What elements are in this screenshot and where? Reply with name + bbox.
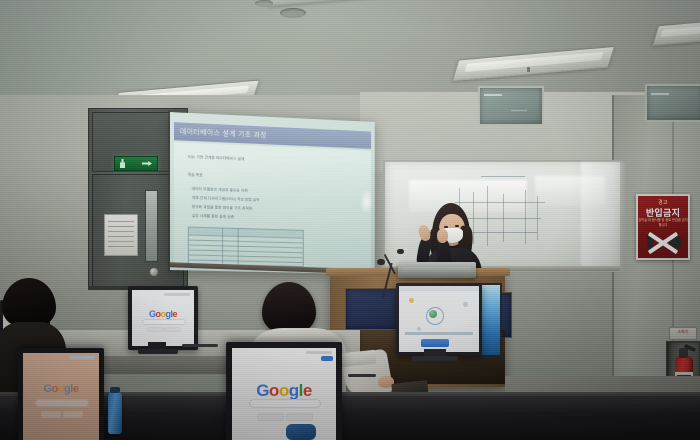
sprinkler-head <box>527 67 530 72</box>
slide-bullet: 개체-관계 다이어그램(ERD) 작성 방법 습득 <box>192 196 260 203</box>
monitor-foreground-screen[interactable]: Google <box>232 348 336 440</box>
no-food-sign: 경고 반입금지 강의실 내 음식물 및 음료 반입을 금지합니다 <box>636 194 690 260</box>
browser-account-chip[interactable] <box>321 356 333 361</box>
podium-monitor-screen[interactable] <box>399 286 479 352</box>
upper-window-panel <box>478 86 544 126</box>
google-search-button[interactable] <box>257 413 284 421</box>
monitor-foreground[interactable]: Google <box>226 342 342 440</box>
ceiling-vent <box>255 0 273 7</box>
door-handle[interactable] <box>150 268 158 276</box>
monitor-base <box>412 356 458 361</box>
google-logo-letter: e <box>303 381 312 400</box>
fire-extinguisher-sign-text: 소화기 <box>670 329 696 335</box>
search-input[interactable] <box>249 399 322 408</box>
slide-bullet: 데이터 모델링의 개념과 필요성 이해 <box>192 187 248 194</box>
desk-blue-object <box>286 424 316 440</box>
bottle-cap <box>110 387 120 393</box>
desk-cable <box>182 344 218 347</box>
browser-tab-strip <box>164 293 190 296</box>
google-logo: Google <box>44 383 79 395</box>
whiteboard-reflection <box>409 180 527 212</box>
google-logo: Google <box>149 309 177 319</box>
page-dot-icon <box>417 327 421 331</box>
slide-bullet: 정규화 과정을 통한 테이블 구조 최적화 <box>192 205 253 212</box>
page-caption-line <box>405 332 472 335</box>
google-logo-letter: e <box>73 383 79 395</box>
google-logo-letter: o <box>279 381 289 400</box>
posted-notice-paper <box>104 214 138 256</box>
slide-table <box>188 227 304 267</box>
monitor-bottom-left[interactable]: Google <box>18 348 104 440</box>
monitor-mid-left[interactable]: Google <box>128 286 198 350</box>
desk-cable <box>348 374 376 377</box>
front-desk <box>0 396 700 440</box>
google-logo-letter: g <box>289 381 299 400</box>
google-logo-letter: G <box>44 383 52 395</box>
exit-sign <box>114 156 158 171</box>
sign-icon-group <box>644 230 682 254</box>
feeling-lucky-button[interactable] <box>63 411 83 418</box>
whiteboard-reflection <box>581 162 625 270</box>
slide-title-text: 데이터베이스 설계 기초 과정 <box>180 126 267 140</box>
ceiling-vent <box>280 8 306 18</box>
podium-monitor[interactable] <box>396 283 482 355</box>
door-window <box>145 190 158 262</box>
projection-screen: 데이터베이스 설계 기초 과정 SQL 기반 관계형 데이터베이스 설계 학습 … <box>170 112 375 274</box>
sign-sub-text: 강의실 내 음식물 및 음료 반입을 금지합니다 <box>638 218 688 228</box>
google-logo-letter: o <box>269 381 279 400</box>
sign-small-text: 경고 <box>638 199 688 206</box>
feeling-lucky-button[interactable] <box>286 413 313 421</box>
google-search-button[interactable] <box>147 327 164 332</box>
search-input[interactable] <box>35 399 89 407</box>
classroom-photo: 데이터베이스 설계 기초 과정 SQL 기반 관계형 데이터베이스 설계 학습 … <box>0 0 700 440</box>
fire-extinguisher-valve <box>679 348 688 358</box>
google-logo-letter: G <box>256 381 269 400</box>
monitor-mid-left-screen[interactable]: Google <box>132 290 194 346</box>
microphone-head <box>377 259 385 265</box>
slide-section-label: 학습 목표 <box>188 173 203 179</box>
microphone-head <box>397 249 404 254</box>
feeling-lucky-button[interactable] <box>164 327 181 332</box>
google-search-button[interactable] <box>41 411 61 418</box>
google-logo-letter: e <box>173 309 178 319</box>
monitor-bottom-left-screen[interactable]: Google <box>23 353 99 440</box>
podium-front-panel <box>345 288 402 330</box>
page-dot-icon <box>463 302 468 307</box>
page-primary-button[interactable] <box>421 339 448 347</box>
projector-hotspot <box>360 189 373 215</box>
browser-tab-strip <box>306 351 332 354</box>
blue-water-bottle <box>108 392 122 434</box>
monitor-base <box>138 349 178 354</box>
laptop-keyboard[interactable] <box>403 267 471 274</box>
browser-toolbar <box>399 286 479 291</box>
slide-bullet: 실무 사례를 통한 설계 검증 <box>192 214 234 220</box>
presenter-hand <box>437 229 448 243</box>
fire-extinguisher-sign: 소화기 <box>669 327 697 340</box>
browser-tab-strip <box>69 356 95 359</box>
slide-subtitle: SQL 기반 관계형 데이터베이스 설계 <box>188 155 245 162</box>
upper-window-panel <box>645 84 700 122</box>
slide-body: SQL 기반 관계형 데이터베이스 설계 학습 목표 데이터 모델링의 개념과 … <box>174 142 371 268</box>
running-person-icon <box>120 159 125 168</box>
podium-laptop[interactable] <box>398 262 476 278</box>
presenter-eye <box>455 225 459 227</box>
page-dot-icon <box>409 298 414 303</box>
search-input[interactable] <box>142 319 186 325</box>
arrow-right-icon <box>142 161 152 166</box>
